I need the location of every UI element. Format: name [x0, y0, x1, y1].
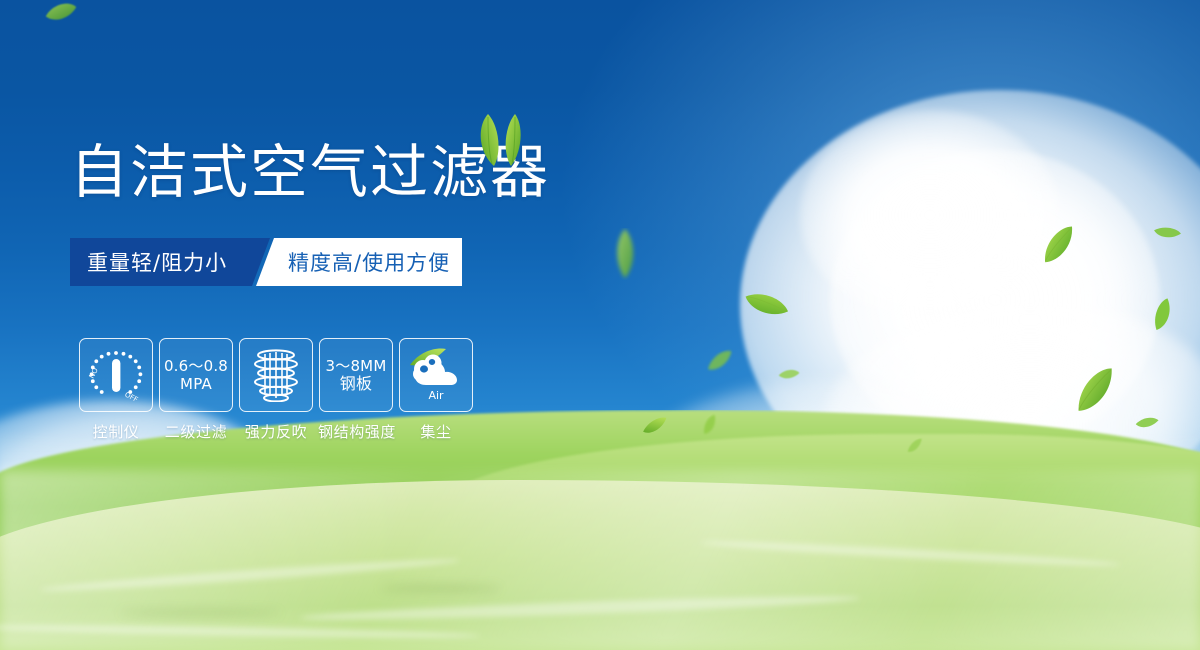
feature-item-control-unit[interactable]: NO OFF 控制仪 — [78, 338, 154, 442]
feature-label: 钢结构强度 — [318, 421, 394, 442]
air-cloud-icon: Air — [406, 347, 466, 403]
feature-icon-box — [239, 338, 313, 412]
feature-item-steel-strength[interactable]: 3～8MM 钢板 钢结构强度 — [318, 338, 394, 442]
feature-list: NO OFF 控制仪 0.6～0.8 MPA 二级过滤 — [78, 338, 474, 442]
grass-field — [0, 410, 1200, 650]
air-label: Air — [428, 389, 444, 402]
pressure-line-2: MPA — [164, 375, 228, 393]
pressure-line-1: 0.6～0.8 — [164, 357, 228, 375]
feature-label: 二级过滤 — [158, 421, 234, 442]
grass-shadow — [120, 610, 280, 616]
feature-label: 强力反吹 — [238, 421, 314, 442]
feature-label: 集尘 — [398, 421, 474, 442]
subtitle-badge-bar: 重量轻/阻力小 精度高/使用方便 — [70, 238, 462, 286]
feature-item-two-stage-filter[interactable]: 0.6～0.8 MPA 二级过滤 — [158, 338, 234, 442]
feature-icon-box: 0.6～0.8 MPA — [159, 338, 233, 412]
feature-icon-box: NO OFF — [79, 338, 153, 412]
gauge-icon: NO OFF — [85, 346, 147, 404]
feature-icon-box: Air — [399, 338, 473, 412]
feature-item-strong-backblow[interactable]: 强力反吹 — [238, 338, 314, 442]
subtitle-badge-left: 重量轻/阻力小 — [70, 238, 270, 286]
feature-icon-box: 3～8MM 钢板 — [319, 338, 393, 412]
subtitle-badge-right: 精度高/使用方便 — [256, 238, 462, 286]
gauge-max-label: OFF — [123, 391, 139, 404]
feature-label: 控制仪 — [78, 421, 154, 442]
coil-filter-icon — [251, 348, 301, 402]
steel-line-2: 钢板 — [326, 375, 387, 393]
steel-line-1: 3～8MM — [326, 357, 387, 375]
subtitle-left-text: 重量轻/阻力小 — [70, 247, 227, 277]
feature-item-dust-collection[interactable]: Air 集尘 — [398, 338, 474, 442]
grass-shadow — [380, 585, 500, 592]
steel-plate-text-icon: 3～8MM 钢板 — [326, 357, 387, 393]
product-hero-banner: 自洁式空气过滤器 重量轻/阻力小 精度高/使用方便 — [0, 0, 1200, 650]
pressure-text-icon: 0.6～0.8 MPA — [164, 357, 228, 393]
gauge-min-label: NO — [88, 366, 100, 380]
subtitle-right-text: 精度高/使用方便 — [256, 247, 450, 277]
sprout-leaves-icon — [466, 112, 536, 168]
